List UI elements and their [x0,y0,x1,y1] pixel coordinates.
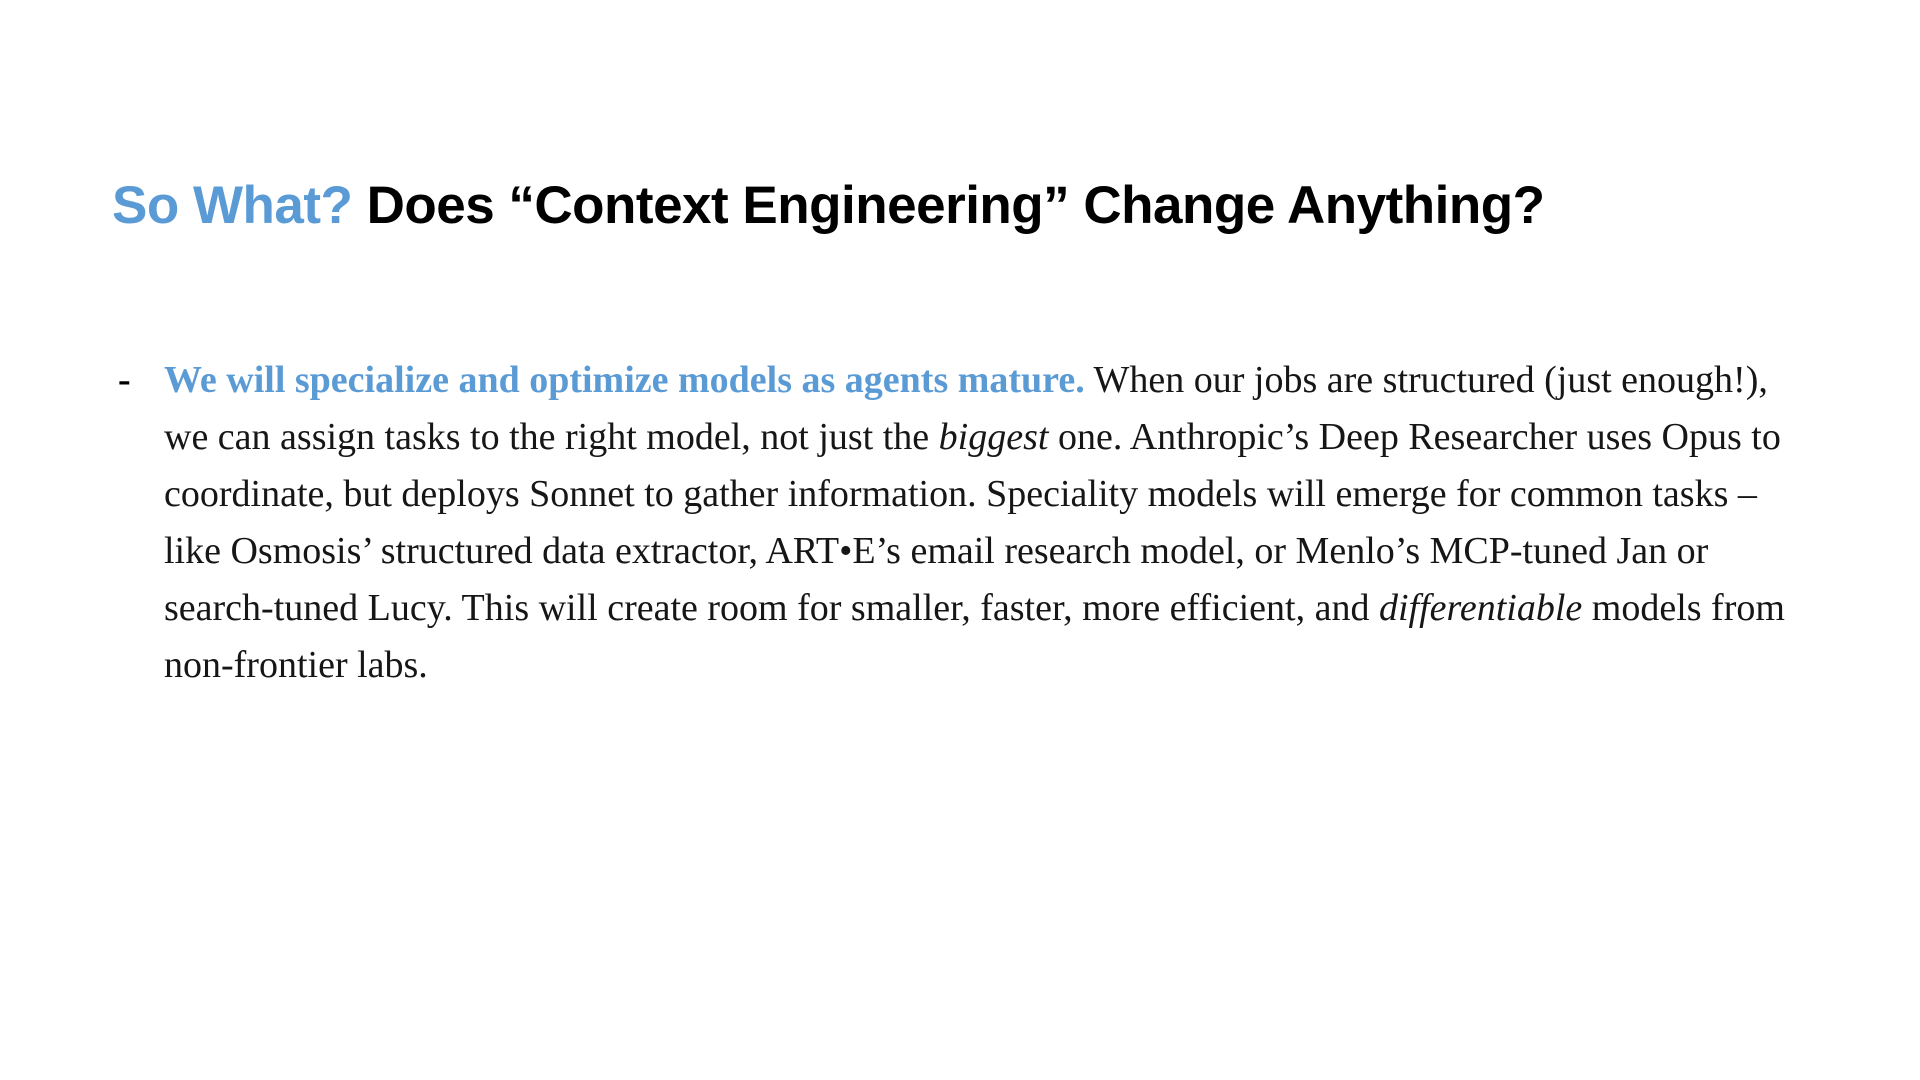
list-item-emphasis-differentiable: differentiable [1379,587,1582,629]
list-item-lead: We will specialize and optimize models a… [164,359,1085,401]
page-title: So What? Does “Context Engineering” Chan… [112,176,1842,235]
bullet-list: - We will specialize and optimize models… [112,352,1812,694]
list-item-text: We will specialize and optimize models a… [164,352,1812,694]
bullet-dash-icon: - [112,352,164,409]
list-item: - We will specialize and optimize models… [112,352,1812,694]
page-title-rest: Does “Context Engineering” Change Anythi… [352,176,1544,235]
slide-canvas: So What? Does “Context Engineering” Chan… [0,0,1920,1080]
page-title-accent: So What? [112,176,352,235]
list-item-emphasis-biggest: biggest [939,416,1049,458]
